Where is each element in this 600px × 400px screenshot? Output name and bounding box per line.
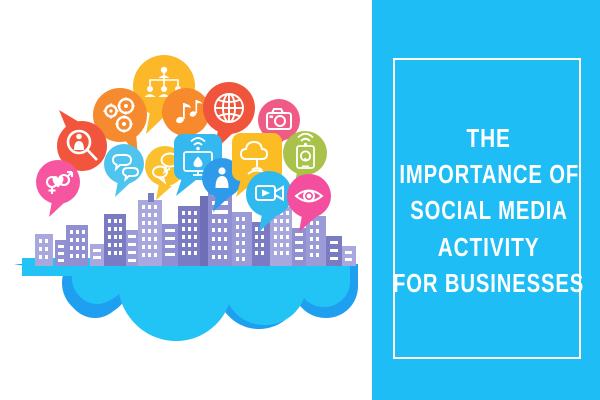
title-line-2: IMPORTANCE OF: [399, 157, 579, 191]
poster-title: THE IMPORTANCE OF SOCIAL MEDIA ACTIVITY …: [395, 60, 583, 361]
title-panel: THE IMPORTANCE OF SOCIAL MEDIA ACTIVITY …: [372, 0, 600, 400]
title-line-4: ACTIVITY: [438, 230, 540, 264]
bubble-gender-heart: [36, 160, 80, 217]
title-line-1: THE: [467, 121, 511, 155]
social-media-illustration: [0, 0, 372, 400]
title-border-frame: THE IMPORTANCE OF SOCIAL MEDIA ACTIVITY …: [393, 58, 581, 359]
poster-canvas: THE IMPORTANCE OF SOCIAL MEDIA ACTIVITY …: [0, 0, 600, 400]
title-line-3: SOCIAL MEDIA: [410, 193, 568, 227]
title-line-5: FOR BUSINESSES: [393, 266, 584, 300]
bubble-chat: [104, 144, 144, 197]
